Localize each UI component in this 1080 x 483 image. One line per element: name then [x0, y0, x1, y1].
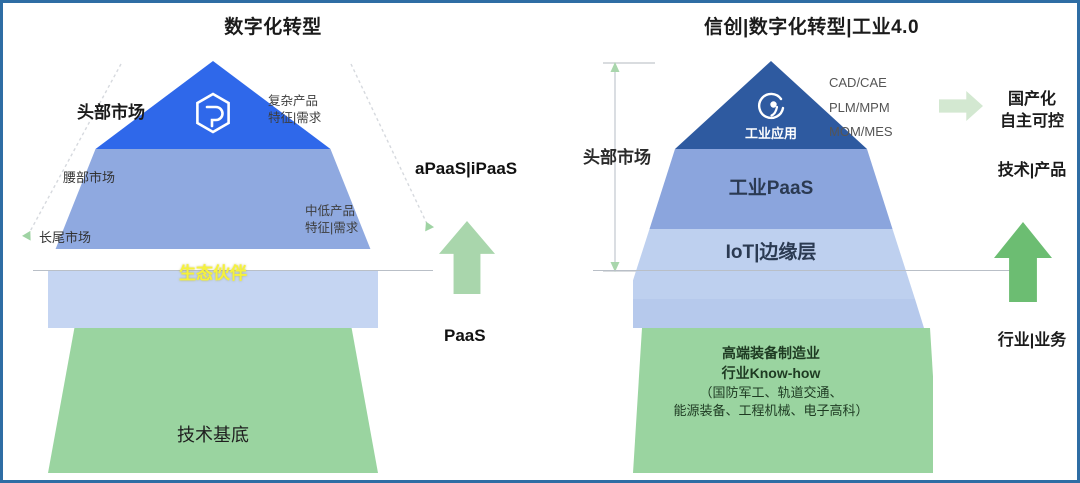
circular-swirl-logo-icon: [753, 89, 789, 125]
right-side-label-localization: 国产化 自主可控: [991, 89, 1073, 132]
left-feature-label-complex: 复杂产品 特征|需求: [268, 93, 321, 127]
right-stack-label-mom: MOM/MES: [829, 123, 893, 141]
right-side-label-tech-product: 技术|产品: [988, 160, 1076, 182]
right-base-line-4: 能源装备、工程机械、电子高科）: [606, 402, 936, 421]
left-panel-title: 数字化转型: [3, 12, 543, 39]
slide-canvas: 数字化转型 生态伙伴 技术基底 头部市场 腰部市: [0, 0, 1080, 483]
left-pyramid-base-label: 技术基底: [177, 421, 249, 447]
left-tier-label-longtail: 长尾市场: [39, 229, 91, 247]
right-stack-label-cad: CAD/CAE: [829, 74, 887, 92]
right-pyramid-base-text-block: 高端装备制造业 行业Know-how （国防军工、轨道交通、 能源装备、工程机械…: [606, 343, 936, 421]
hexagon-logo-icon: [193, 91, 233, 135]
right-stack-label-plm: PLM/MPM: [829, 99, 890, 117]
right-pyramid-paas-label: 工业PaaS: [729, 173, 813, 200]
right-side-label-industry-business: 行业|业务: [988, 330, 1076, 352]
right-base-line-2: 行业Know-how: [606, 363, 936, 383]
left-pyramid-layer-base: [48, 328, 378, 473]
left-pyramid-partner-label: 生态伙伴: [179, 259, 247, 284]
right-base-line-1: 高端装备制造业: [606, 343, 936, 363]
right-base-line-3: （国防军工、轨道交通、: [606, 384, 936, 403]
left-tier-label-waist: 腰部市场: [63, 169, 115, 187]
right-pyramid-iot-label: IoT|边缘层: [726, 237, 817, 264]
left-tier-label-head: 头部市场: [77, 102, 145, 125]
right-pyramid-layer-iot-foot: [633, 299, 933, 328]
right-panel-title: 信创|数字化转型|工业4.0: [543, 12, 1080, 39]
right-pyramid-app-label: 工业应用: [745, 123, 797, 142]
left-side-label-apaas-ipaas: aPaaS|iPaaS: [415, 158, 517, 181]
left-side-label-paas: PaaS: [444, 325, 486, 348]
left-feature-label-midlow: 中低产品 特征|需求: [305, 203, 358, 237]
right-separator-rule: [593, 270, 1013, 271]
